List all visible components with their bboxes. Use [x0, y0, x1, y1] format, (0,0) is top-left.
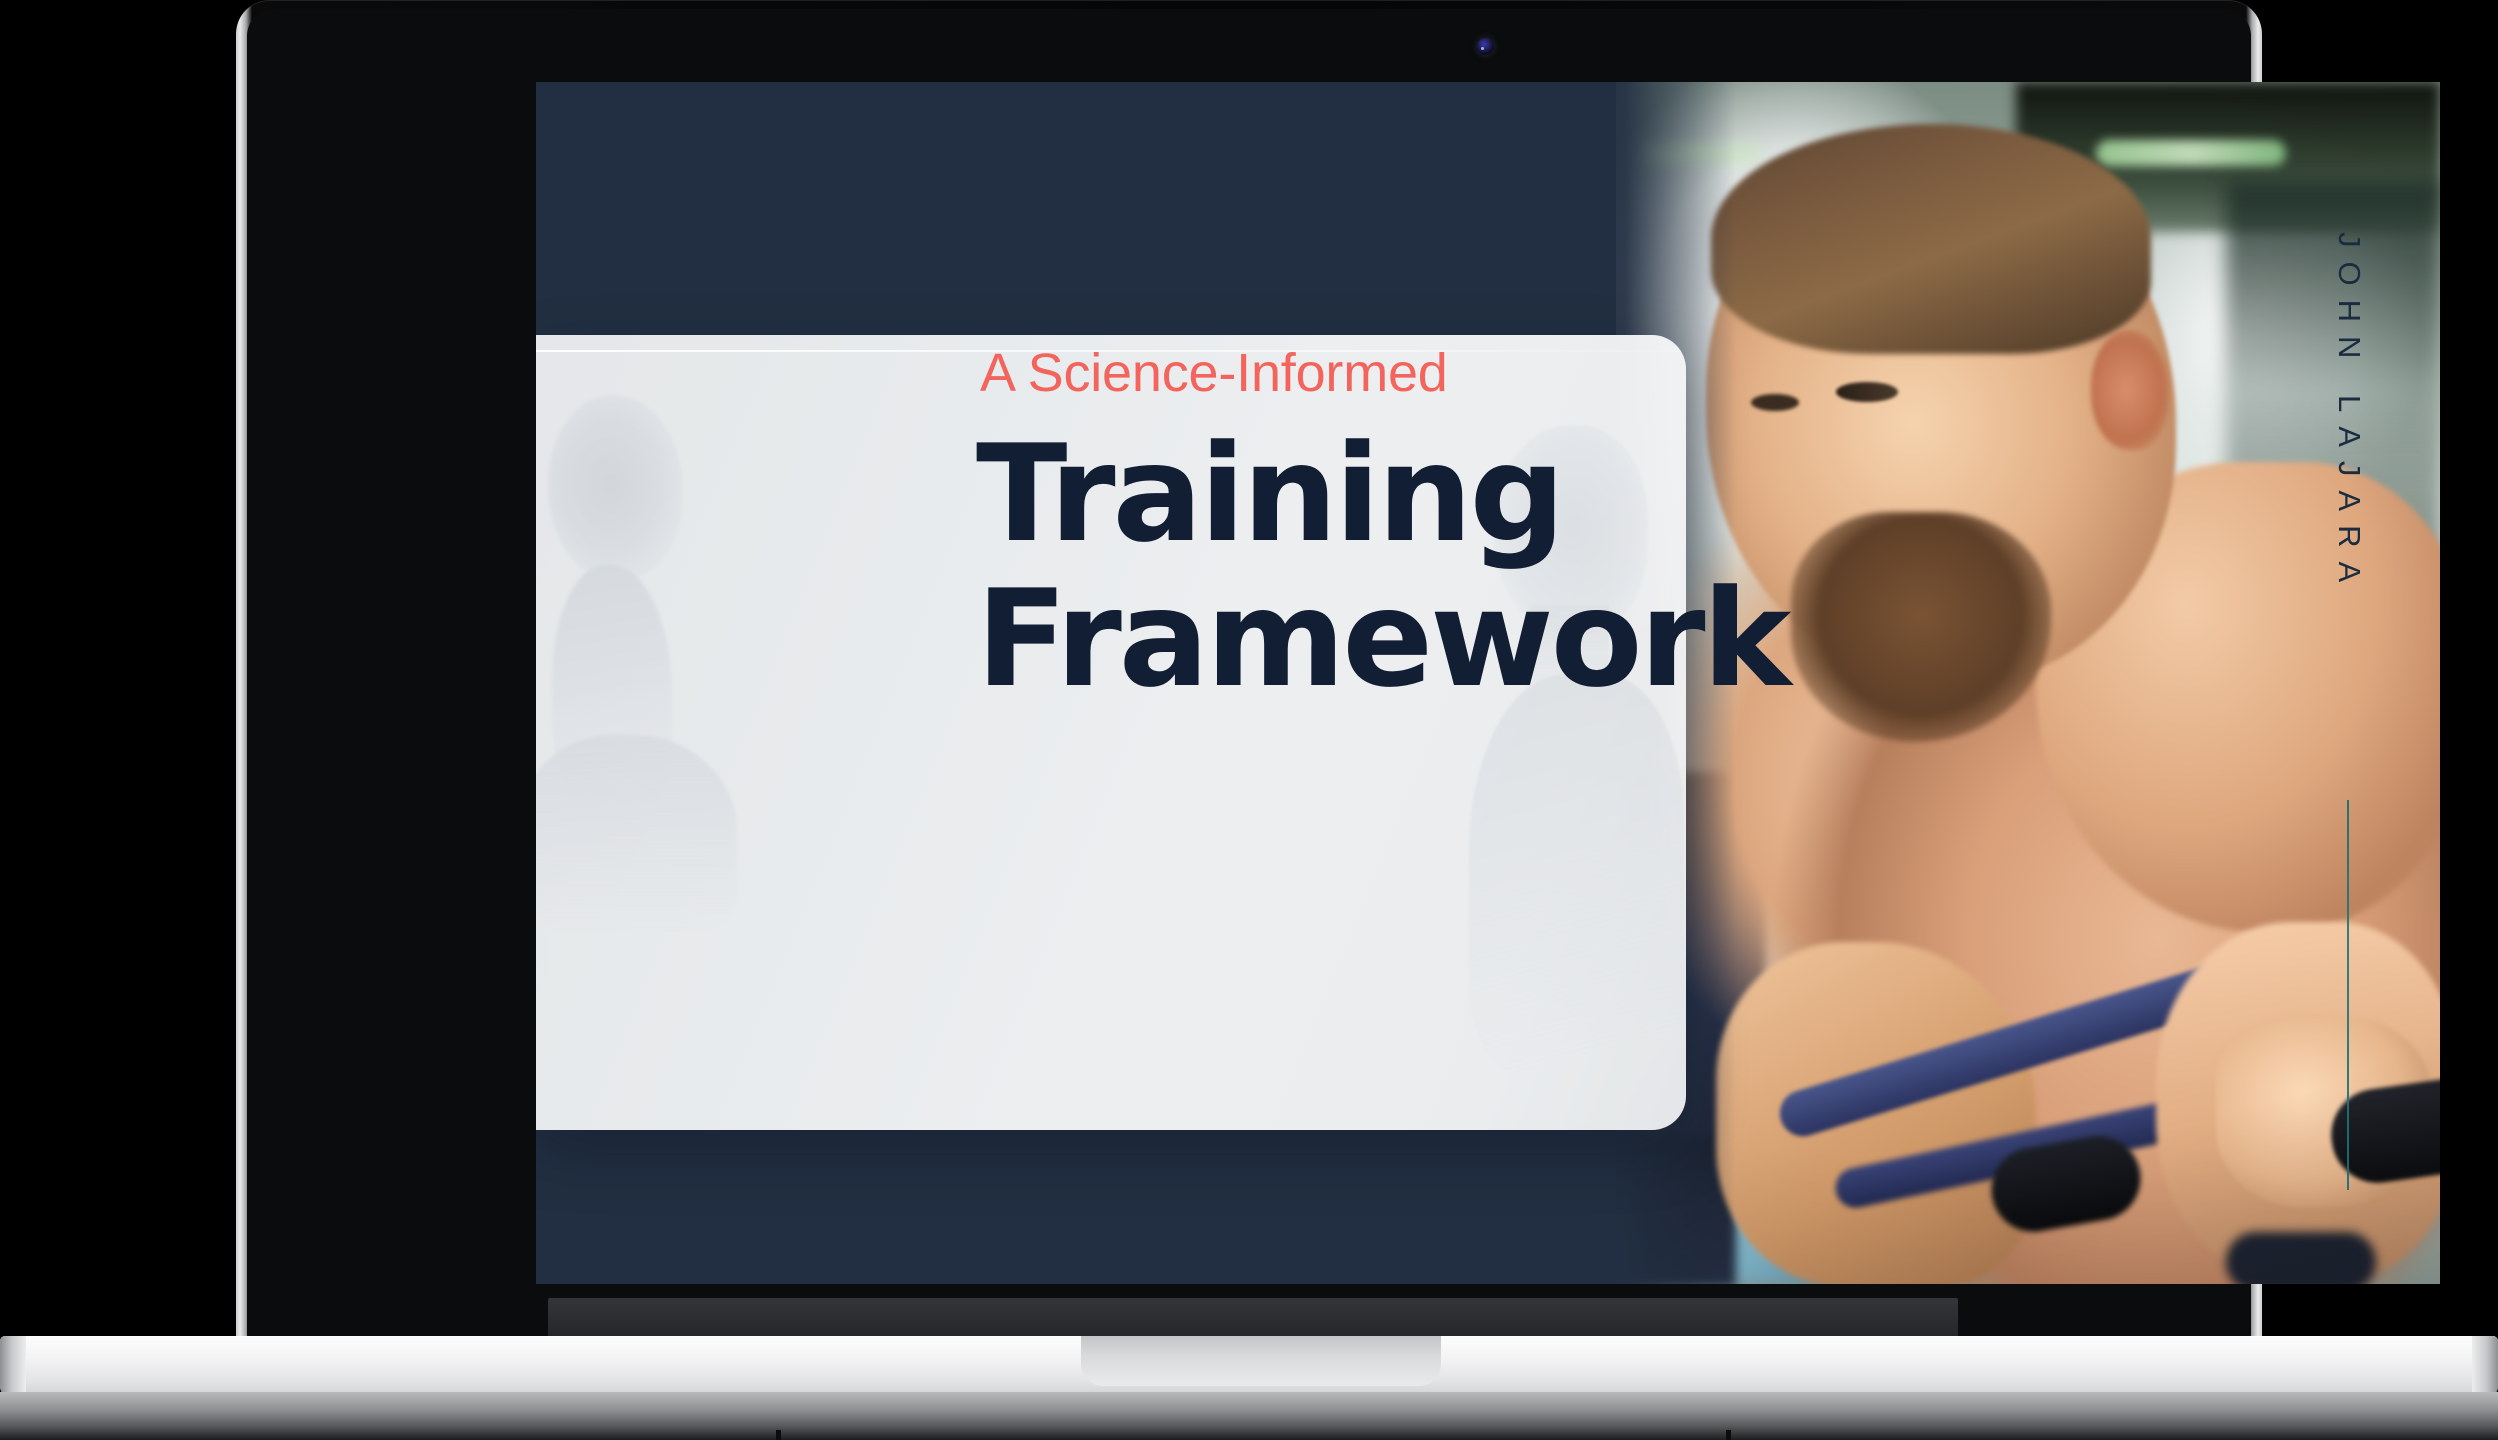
- webcam-glint: [1481, 47, 1484, 50]
- vertical-author-name: JOHN LAJARA: [2331, 232, 2367, 596]
- photo-subject-eye-far: [1751, 394, 1799, 411]
- photo-subject-hair: [1711, 124, 2151, 354]
- slide-headline-line-2: Framework: [976, 567, 1876, 712]
- photo-subject-ear: [2091, 330, 2169, 450]
- laptop-base-edge-right: [2472, 1336, 2498, 1398]
- vertical-accent-rule: [2347, 800, 2349, 1190]
- slide-headline: Training Framework: [976, 422, 1876, 711]
- photo-subject-shoe: [2226, 1232, 2376, 1284]
- laptop-mockup: A Science-Informed Training Framework JO…: [236, 0, 2262, 1440]
- laptop-foot-left: [776, 1430, 781, 1440]
- webcam-icon: [1477, 38, 1494, 55]
- laptop-base-notch: [1081, 1336, 1441, 1386]
- photo-ceiling-lamp: [2096, 140, 2286, 166]
- laptop-base-edge-left: [0, 1336, 26, 1398]
- laptop-base-underside: [0, 1392, 2498, 1440]
- card-ghost-figure-left: [536, 375, 772, 935]
- laptop-screen: A Science-Informed Training Framework JO…: [536, 82, 2440, 1284]
- screenshot-canvas: A Science-Informed Training Framework JO…: [0, 0, 2498, 1440]
- slide-headline-line-1: Training: [976, 422, 1876, 567]
- laptop-foot-right: [1726, 1430, 1731, 1440]
- photo-subject-eye-near: [1836, 382, 1898, 402]
- slide-eyebrow: A Science-Informed: [980, 342, 1448, 404]
